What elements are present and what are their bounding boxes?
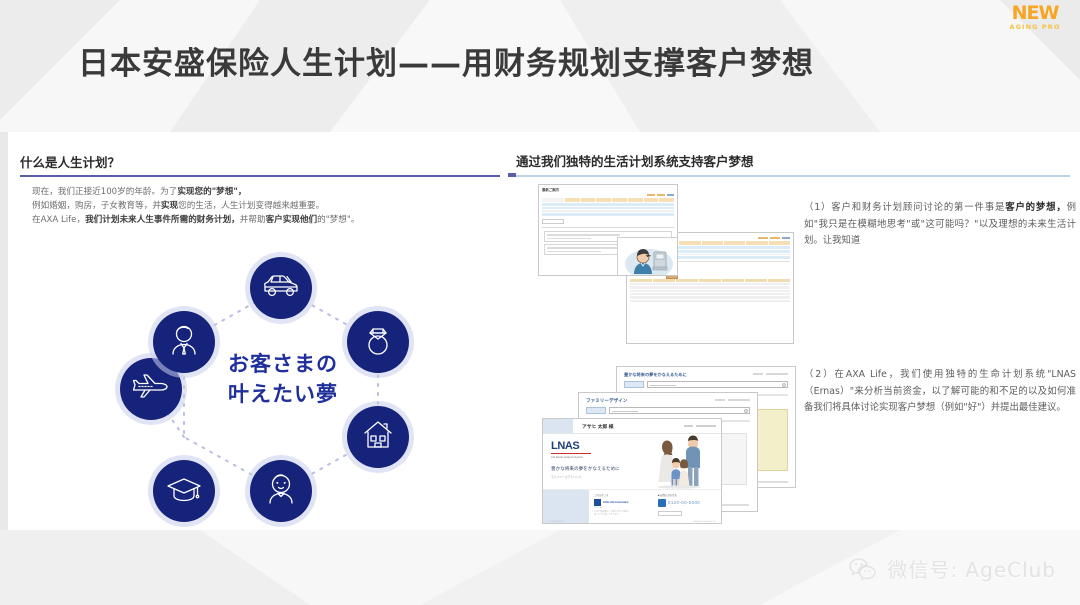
diagram-node-education[interactable] [153,460,215,522]
logo-sub-text: AGING PRO [1004,23,1066,32]
left-panel-divider [20,175,500,177]
wechat-icon [848,557,878,581]
left-panel-body: 现在，我们正接近100岁的年龄。为了实现您的"梦想"， 例如婚姻，购房，子女教育… [32,185,482,228]
body-line-2: 例如婚姻，购房，子女教育等，并实现您的生活，人生计划变得越来越重要。 [32,199,482,213]
right-panel-divider [516,175,1070,177]
diagram-node-house[interactable] [347,406,409,468]
content-card: 什么是人生计划？ 现在，我们正接近100岁的年龄。为了实现您的"梦想"， 例如婚… [8,132,1080,530]
diagram-node-wedding[interactable] [347,311,409,373]
body-line-3: 在AXA Life，我们计划未来人生事件所需的财务计划，并帮助客户实现他们的"梦… [32,213,482,227]
family-illustration [645,434,709,489]
house-icon [358,415,398,460]
watermark-text: 微信号: AgeClub [887,554,1056,583]
body-line-1: 现在，我们正接近100岁的年龄。为了实现您的"梦想"， [32,185,482,199]
center-text-line2: 叶えたい夢 [188,379,378,409]
diamond-ring-icon [358,320,398,365]
dream-circle-diagram: お客さまの 叶えたい夢 [126,257,436,522]
logo-main-text: NEW [1004,4,1066,23]
diagram-node-car[interactable] [250,257,312,319]
diagram-node-career[interactable] [153,311,215,373]
screenshot-front-sheet[interactable]: 最新ご案内 [538,184,678,276]
right-panel-heading: 通过我们独特的生活计划系统支持客户梦想 [516,151,754,170]
diagram-center-text: お客さまの 叶えたい夢 [188,349,378,409]
brand-logo: NEW AGING PRO [1004,4,1066,40]
airplane-icon [131,367,171,412]
right-paragraph-2: （2）在AXA Life，我们使用独特的生命计划系统"LNAS（Ernas）"来… [804,367,1076,417]
screenshot-illustration [617,237,678,276]
businessman-icon [164,320,204,365]
right-paragraph-1: （1）客户和财务计划顾问讨论的第一件事是客户的梦想，例如"我只是在模糊地思考"或… [804,200,1076,250]
car-icon [261,266,301,311]
right-panel-divider-tick [508,173,516,177]
lifeplan-system-screenshots-top: 最新ご案内 [538,184,798,344]
lnas-customer-name: アサヒ 太郎 様 [573,423,684,430]
lnas-report-screenshots: 豊かな将来の夢をかなえるために ファミリーデザイン [542,354,802,524]
child-icon [261,469,301,514]
page-title: 日本安盛保险人生计划——用财务规划支撑客户梦想 [78,38,814,83]
graduation-cap-icon [164,469,204,514]
lnas-cover-sheet[interactable]: アサヒ 太郎 様 LNAS Life Needs Analysis System… [542,418,722,524]
left-panel-heading: 什么是人生计划？ [20,152,120,171]
wechat-watermark: 微信号: AgeClub [848,554,1056,583]
screenshot-window-title: 最新ご案内 [539,185,677,194]
slide-header: 日本安盛保险人生计划——用财务规划支撑客户梦想 NEW AGING PRO [0,0,1080,132]
diagram-node-child[interactable] [250,460,312,522]
